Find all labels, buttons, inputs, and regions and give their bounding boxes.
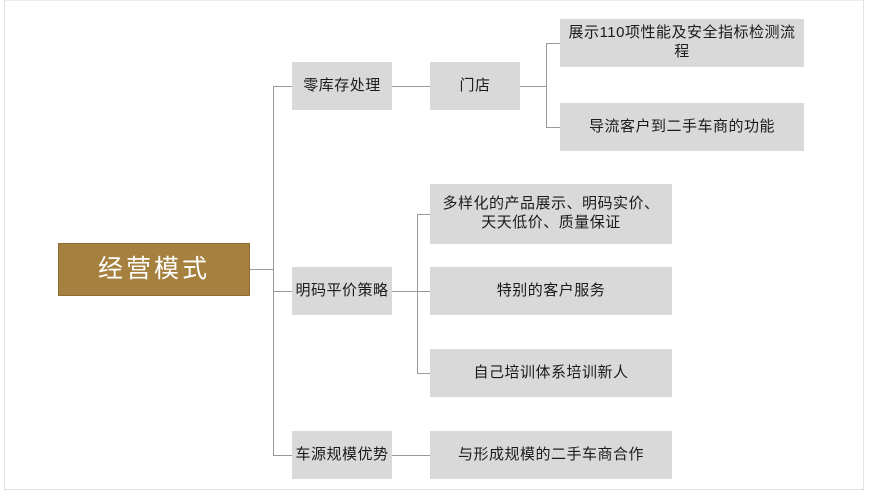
connector-branch2-to-spine <box>392 291 417 292</box>
leaf-node-dealer-cooperation-label: 与形成规模的二手车商合作 <box>458 446 644 465</box>
connector-main-spine <box>273 86 274 455</box>
connector-branch1-to-child <box>392 86 430 87</box>
branch-node-supply-scale[interactable]: 车源规模优势 <box>292 431 392 479</box>
branch-node-fair-pricing-label: 明码平价策略 <box>295 282 388 301</box>
branch-node-zero-inventory[interactable]: 零库存处理 <box>292 62 392 110</box>
leaf-node-product-display-label: 多样化的产品展示、明码实价、天天低价、质量保证 <box>438 195 664 233</box>
leaf-node-customer-routing[interactable]: 导流客户到二手车商的功能 <box>560 103 804 151</box>
root-node-label: 经营模式 <box>98 254 210 285</box>
branch-node-supply-scale-label: 车源规模优势 <box>295 446 388 465</box>
root-node[interactable]: 经营模式 <box>58 243 250 296</box>
connector-branch2-spine <box>417 214 418 373</box>
connector-mendian-to-spine <box>520 86 546 87</box>
leaf-node-staff-training-label: 自己培训体系培训新人 <box>473 364 628 383</box>
leaf-node-customer-routing-label: 导流客户到二手车商的功能 <box>589 118 775 137</box>
leaf-node-inspection-process-label: 展示110项性能及安全指标检测流程 <box>568 24 796 62</box>
leaf-node-staff-training[interactable]: 自己培训体系培训新人 <box>430 349 672 397</box>
leaf-node-dealer-cooperation[interactable]: 与形成规模的二手车商合作 <box>430 431 672 479</box>
connector-mendian-spine <box>546 43 547 127</box>
connector-root-to-spine <box>250 269 274 270</box>
diagram-canvas: 经营模式 零库存处理 门店 展示110项性能及安全指标检测流程 导流客户到二手车… <box>0 0 870 498</box>
connector-spine-to-branch-2 <box>273 291 292 292</box>
branch-node-fair-pricing[interactable]: 明码平价策略 <box>292 267 392 315</box>
leaf-node-inspection-process[interactable]: 展示110项性能及安全指标检测流程 <box>560 19 804 67</box>
leaf-node-customer-service[interactable]: 特别的客户服务 <box>430 267 672 315</box>
connector-branch3-to-child <box>392 455 430 456</box>
connector-mendian-to-leaf-1 <box>546 43 560 44</box>
branch-node-store-label: 门店 <box>459 77 490 96</box>
leaf-node-product-display[interactable]: 多样化的产品展示、明码实价、天天低价、质量保证 <box>430 184 672 244</box>
leaf-node-customer-service-label: 特别的客户服务 <box>497 282 606 301</box>
connector-spine-to-branch-1 <box>273 86 292 87</box>
connector-branch2-to-leaf-1 <box>417 214 430 215</box>
connector-branch2-to-leaf-2 <box>417 291 430 292</box>
connector-mendian-to-leaf-2 <box>546 127 560 128</box>
branch-node-store[interactable]: 门店 <box>430 62 520 110</box>
connector-branch2-to-leaf-3 <box>417 373 430 374</box>
connector-spine-to-branch-3 <box>273 455 292 456</box>
branch-node-zero-inventory-label: 零库存处理 <box>303 77 381 96</box>
